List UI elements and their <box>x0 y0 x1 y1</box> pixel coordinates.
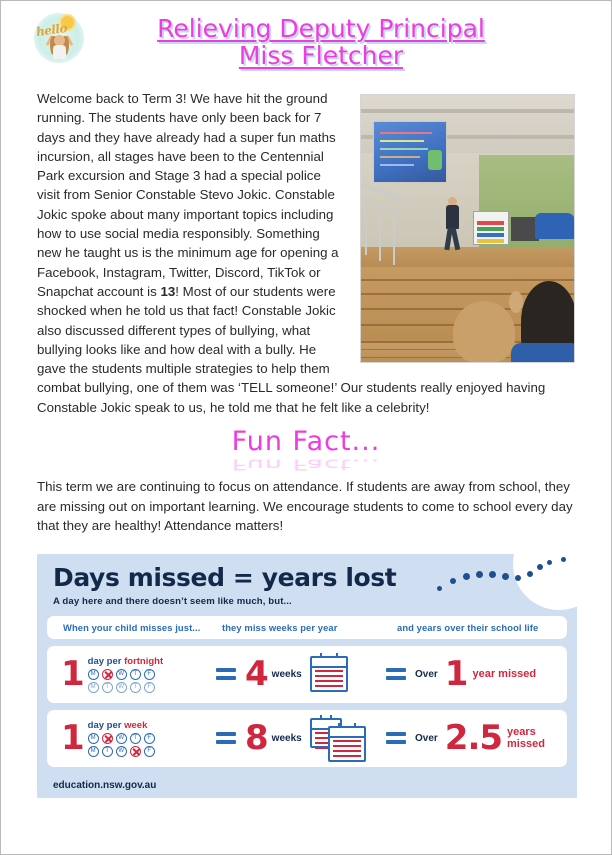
row-frequency-label: day per week <box>88 720 155 731</box>
hello-logo-icon: hello <box>30 11 88 67</box>
equals-sign-icon <box>377 668 415 680</box>
row-days-cell: 1day per fortnightMTWTFMTWTF <box>47 646 207 703</box>
frequency-accent: week <box>124 720 147 731</box>
day-circle: M <box>88 682 99 693</box>
infographic-row: 1day per fortnightMTWTFMTWTF4weeksOver1y… <box>47 646 567 703</box>
photo-board-stripe <box>477 239 504 243</box>
week-day-grid: MTWTFMTWTF <box>88 669 163 693</box>
intro-text-part-1: Welcome back to Term 3! We have hit the … <box>37 91 339 299</box>
row-days-number: 1 <box>61 721 84 755</box>
day-circle: T <box>130 669 141 680</box>
row-years-label: year missed <box>472 668 536 680</box>
week-day-line: MTWTF <box>88 733 155 744</box>
infographic-column-headers: When your child misses just... they miss… <box>47 616 567 639</box>
day-circle: F <box>144 746 155 757</box>
newsletter-page: hello Relieving Deputy Principal Miss Fl… <box>0 0 612 855</box>
photo-slide-line <box>380 132 432 134</box>
page-title: Relieving Deputy Principal Miss Fletcher <box>101 15 541 69</box>
years-label-line-1: year missed <box>472 668 536 680</box>
day-circle: T <box>130 733 141 744</box>
equals-sign-icon <box>377 732 415 744</box>
frequency-accent: fortnight <box>124 656 163 667</box>
photo-step-edge <box>361 279 574 281</box>
column-header-3: and years over their school life <box>397 622 567 633</box>
day-circle: W <box>116 682 127 693</box>
column-header-1: When your child misses just... <box>47 622 222 633</box>
day-circle: T <box>130 682 141 693</box>
row-over-label: Over <box>415 669 438 680</box>
day-circle: W <box>116 733 127 744</box>
photo-student-hand <box>509 291 523 313</box>
equals-sign-icon <box>207 732 245 744</box>
attendance-infographic: Days missed = years lost A day here and … <box>37 554 577 798</box>
row-frequency-label: day per fortnight <box>88 656 163 667</box>
page-title-line-1: Relieving Deputy Principal <box>101 15 541 42</box>
frequency-prefix: day per <box>88 656 124 667</box>
calendar-icon <box>328 726 366 762</box>
day-circle: F <box>144 669 155 680</box>
row-years-cell: Over1year missed <box>415 646 567 703</box>
week-day-line: MTWTF <box>88 669 163 680</box>
week-day-grid: MTWTFMTWTF <box>88 733 155 757</box>
attendance-paragraph: This term we are continuing to focus on … <box>1 473 611 536</box>
logo-girl-body <box>53 45 66 59</box>
row-weeks-label: weeks <box>272 669 302 680</box>
row-weeks-number: 4 <box>245 657 268 691</box>
photo-student-shirt <box>511 343 575 363</box>
infographic-footer: education.nsw.gov.au <box>37 776 577 798</box>
row-years-number: 1 <box>445 657 468 691</box>
photo-notice-board <box>473 211 509 245</box>
calendar-icon <box>310 656 348 692</box>
photo-rail-post <box>379 203 381 261</box>
row-days-detail: day per fortnightMTWTFMTWTF <box>88 656 163 693</box>
row-years-label: yearsmissed <box>507 726 545 750</box>
day-circle: T <box>102 746 113 757</box>
photo-slide-line <box>380 140 424 142</box>
photo-board-stripe <box>477 221 504 225</box>
photo-student-foreground-1 <box>453 301 515 363</box>
photo-slide-line <box>380 148 428 150</box>
photo-rail-post <box>393 209 395 265</box>
page-title-line-2: Miss Fletcher <box>101 42 541 69</box>
row-weeks-cell: 4weeks <box>245 646 377 703</box>
day-circle: M <box>88 733 99 744</box>
page-header: hello Relieving Deputy Principal Miss Fl… <box>1 1 611 87</box>
row-days-detail: day per weekMTWTFMTWTF <box>88 720 155 757</box>
years-label-line-2: missed <box>507 738 545 750</box>
photo-rail-bar <box>364 200 404 216</box>
calendar-stack-icon <box>310 718 366 758</box>
equals-sign-icon <box>207 668 245 680</box>
day-circle-missed: T <box>102 733 113 744</box>
day-circle: M <box>88 669 99 680</box>
photo-officer-leg <box>451 228 460 251</box>
police-visit-photo <box>360 94 575 363</box>
intro-bold-number: 13 <box>160 284 175 299</box>
day-circle: M <box>88 746 99 757</box>
infographic-header: Days missed = years lost A day here and … <box>37 554 577 607</box>
photo-board-stripe <box>477 227 504 231</box>
row-over-label: Over <box>415 733 438 744</box>
week-day-line: MTWTF <box>88 682 163 693</box>
day-circle: F <box>144 682 155 693</box>
photo-slide-line <box>380 156 420 158</box>
page-content: Welcome back to Term 3! We have hit the … <box>1 87 611 798</box>
infographic-subtitle: A day here and there doesn’t seem like m… <box>53 596 561 607</box>
week-day-line: MTWTF <box>88 746 155 757</box>
row-days-cell: 1day per weekMTWTFMTWTF <box>47 710 207 767</box>
day-circle: T <box>102 682 113 693</box>
day-circle: W <box>116 746 127 757</box>
photo-slide-graphic <box>428 150 442 170</box>
photo-officer-body <box>446 205 459 229</box>
infographic-row: 1day per weekMTWTFMTWTF8weeksOver2.5year… <box>47 710 567 767</box>
row-weeks-number: 8 <box>245 721 268 755</box>
photo-projector-screen <box>373 121 447 183</box>
infographic-title: Days missed = years lost <box>53 564 561 592</box>
photo-ceiling-beam <box>361 109 574 113</box>
row-weeks-cell: 8weeks <box>245 710 377 767</box>
day-circle: W <box>116 669 127 680</box>
photo-handrail <box>361 191 407 279</box>
photo-board-stripe <box>477 233 504 237</box>
intro-section: Welcome back to Term 3! We have hit the … <box>1 87 611 417</box>
row-years-number: 2.5 <box>445 721 502 755</box>
row-days-number: 1 <box>61 657 84 691</box>
infographic-rows: 1day per fortnightMTWTFMTWTF4weeksOver1y… <box>37 646 577 767</box>
day-circle: F <box>144 733 155 744</box>
fun-fact-heading: Fun Fact... <box>232 427 381 457</box>
photo-rail-post <box>365 197 367 255</box>
frequency-prefix: day per <box>88 720 124 731</box>
photo-blue-equipment <box>535 213 575 239</box>
row-weeks-label: weeks <box>272 733 302 744</box>
day-circle-missed: T <box>130 746 141 757</box>
column-header-2: they miss weeks per year <box>222 622 397 633</box>
day-circle-missed: T <box>102 669 113 680</box>
photo-police-officer <box>445 197 460 251</box>
photo-slide-line <box>380 164 414 166</box>
row-years-cell: Over2.5yearsmissed <box>415 710 567 767</box>
years-label-line-1: years <box>507 726 536 738</box>
fun-fact-heading-wrap: Fun Fact... <box>1 417 611 473</box>
